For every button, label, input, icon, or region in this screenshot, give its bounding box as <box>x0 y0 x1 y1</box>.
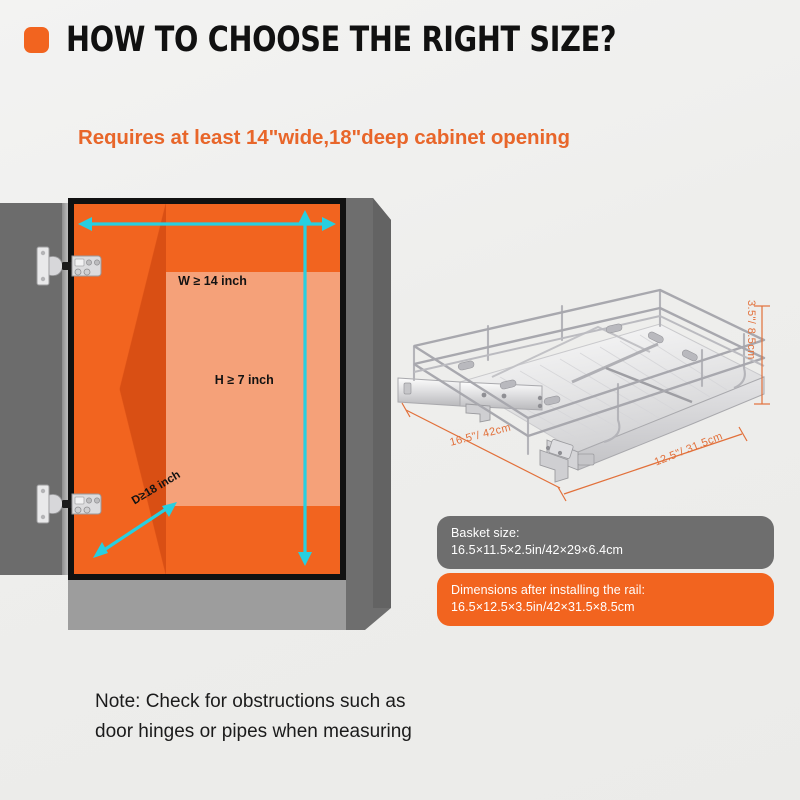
rail-dimensions-box: Dimensions after installing the rail: 16… <box>437 573 774 626</box>
basket-size-title: Basket size: <box>451 525 760 542</box>
header: HOW TO CHOOSE THE RIGHT SIZE? <box>24 22 737 58</box>
cabinet-hinge-top <box>36 244 110 288</box>
rail-dimensions-title: Dimensions after installing the rail: <box>451 582 760 599</box>
rail-dimensions-value: 16.5×12.5×3.5in/42×31.5×8.5cm <box>451 599 760 616</box>
note-line-2: door hinges or pipes when measuring <box>95 717 515 747</box>
note-line-1: Note: Check for obstructions such as <box>95 687 515 717</box>
interior-back-panel <box>166 272 340 505</box>
subtitle: Requires at least 14"wide,18"deep cabine… <box>78 126 738 150</box>
page-title: HOW TO CHOOSE THE RIGHT SIZE? <box>66 22 616 58</box>
basket-size-value: 16.5×11.5×2.5in/42×29×6.4cm <box>451 542 760 559</box>
note-text: Note: Check for obstructions such as doo… <box>95 687 515 747</box>
basket-size-box: Basket size: 16.5×11.5×2.5in/42×29×6.4cm <box>437 516 774 569</box>
cabinet-interior: W ≥ 14 inch H ≥ 7 inch D≥18 inch <box>74 204 340 574</box>
infographic-canvas: HOW TO CHOOSE THE RIGHT SIZE? Requires a… <box>0 0 800 800</box>
square-bullet-icon <box>24 27 49 53</box>
cabinet-hinge-bottom <box>36 482 110 526</box>
width-label: W ≥ 14 inch <box>178 274 247 288</box>
product-height-label: 3.5"/ 8.5cm <box>745 300 757 360</box>
cabinet-opening-diagram: W ≥ 14 inch H ≥ 7 inch D≥18 inch <box>0 186 410 636</box>
pull-out-basket-drawing <box>392 282 792 512</box>
cabinet-plinth <box>68 578 346 630</box>
height-label: H ≥ 7 inch <box>215 373 274 387</box>
